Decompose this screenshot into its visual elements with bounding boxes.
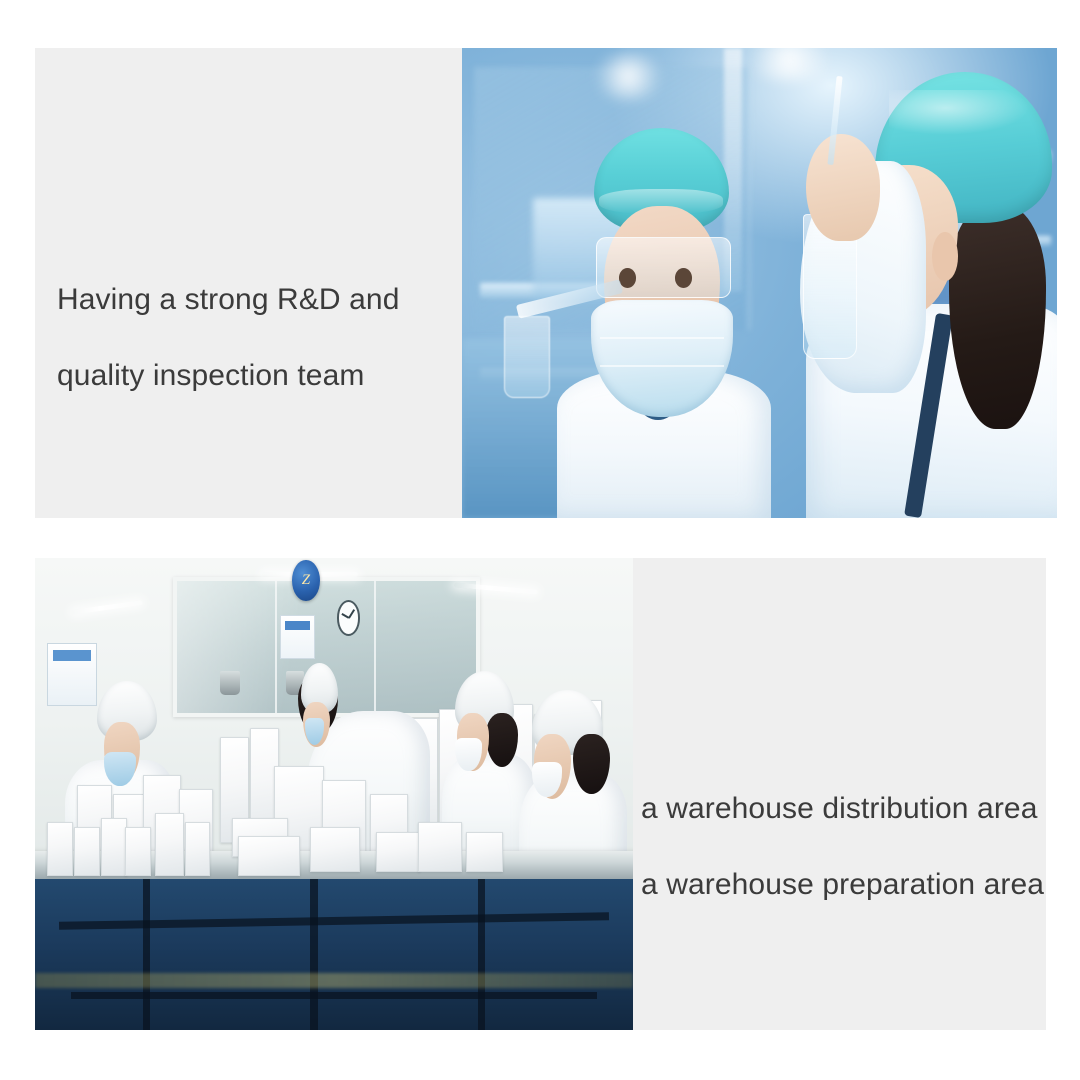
wall-clock-icon <box>337 600 360 635</box>
lab-quality-inspection-photo <box>462 48 1057 518</box>
carton <box>238 836 300 876</box>
carton <box>47 822 73 876</box>
lab-flask-icon <box>504 316 551 398</box>
lab-worker-front <box>557 128 771 518</box>
bench-strut <box>310 879 318 1030</box>
carton <box>74 827 100 876</box>
worker-hand <box>806 134 880 241</box>
caption-line: Having a strong R&D and <box>57 281 457 319</box>
carton <box>376 832 420 872</box>
company-logo-badge-icon <box>292 560 320 601</box>
carton <box>418 822 462 871</box>
section-one-caption: Having a strong R&D and quality inspecti… <box>57 243 457 433</box>
warehouse-packing-photo <box>35 558 633 1030</box>
section-two-caption: a warehouse distribution area a warehous… <box>641 752 1051 942</box>
bench-strut <box>143 879 151 1030</box>
bench-strut <box>71 992 597 999</box>
floor-marking-line <box>35 973 633 987</box>
bench-frame <box>35 879 633 1030</box>
caption-line: a warehouse distribution area <box>641 790 1051 828</box>
steel-container <box>220 671 239 695</box>
window-mullion <box>275 581 277 713</box>
carton <box>310 827 360 871</box>
ceiling-light-icon <box>587 53 670 100</box>
lab-worker-profile <box>783 72 1057 519</box>
carton <box>155 813 184 876</box>
caption-line: quality inspection team <box>57 357 457 395</box>
warehouse-scene-background <box>35 558 633 1030</box>
worker-ear <box>932 232 958 281</box>
bench-strut <box>478 879 486 1030</box>
lab-scene-background <box>462 48 1057 518</box>
carton <box>125 827 151 876</box>
carton <box>466 832 504 872</box>
carton <box>101 818 127 877</box>
worker-eye <box>675 268 692 288</box>
carton <box>185 822 211 876</box>
caption-line: a warehouse preparation area <box>641 866 1051 904</box>
